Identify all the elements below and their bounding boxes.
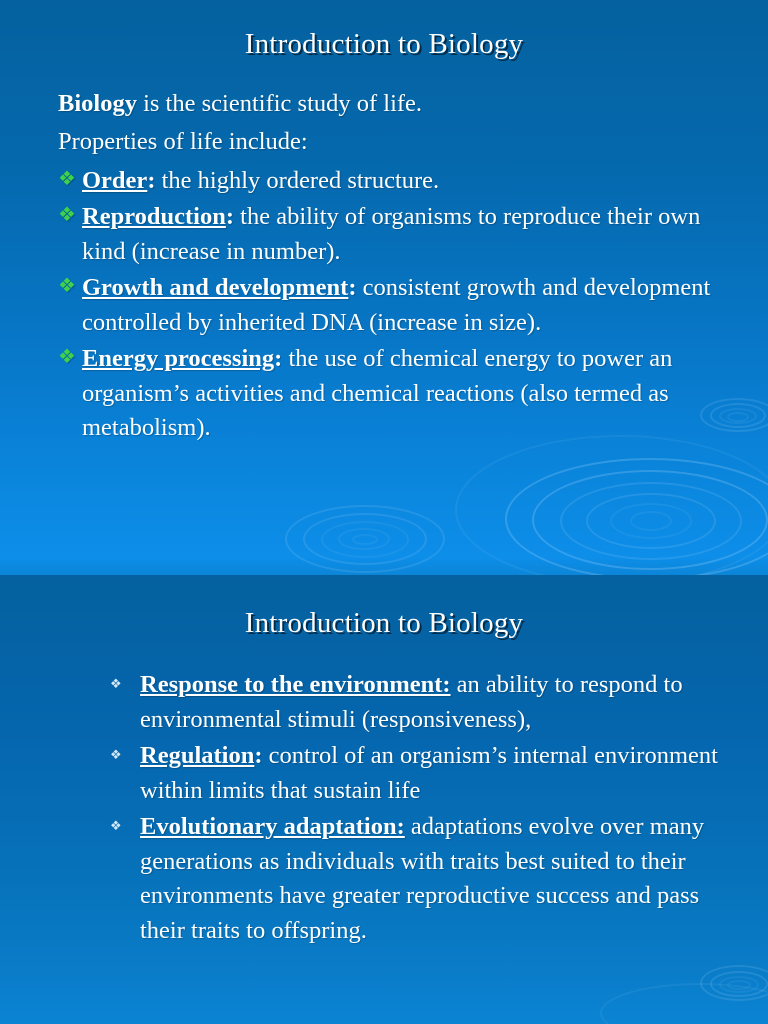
list-item-term-tail: : bbox=[348, 274, 356, 301]
diamond-bullet-icon: ❖ bbox=[58, 276, 82, 296]
diamond-bullet-icon: ❖ bbox=[58, 169, 82, 189]
list-item-term: Evolutionary adaptation: bbox=[140, 813, 405, 840]
list-item-term: Order bbox=[82, 167, 147, 194]
slide-1-body: Biology is the scientific study of life.… bbox=[0, 61, 768, 446]
diamond-bullet-icon: ❖ bbox=[58, 347, 82, 367]
page-title: Introduction to Biology bbox=[0, 575, 768, 640]
list-item-term-tail: : bbox=[226, 203, 234, 230]
slide-2-bullet-list: ❖ Response to the environment: an abilit… bbox=[110, 668, 748, 948]
intro-line-1-strong: Biology bbox=[58, 90, 137, 117]
list-item-text: Response to the environment: an ability … bbox=[140, 668, 740, 737]
list-item-text: Regulation: control of an organism’s int… bbox=[140, 739, 740, 808]
intro-line-2: Properties of life include: bbox=[58, 125, 748, 159]
list-item-term-tail: : bbox=[254, 742, 262, 769]
list-item-term: Energy processing bbox=[82, 345, 274, 372]
list-item-text: Reproduction: the ability of organisms t… bbox=[82, 200, 748, 269]
intro-line-2-rest: Properties of life include: bbox=[58, 128, 308, 155]
slide-1-bullet-list: ❖ Order: the highly ordered structure. ❖… bbox=[58, 164, 748, 446]
diamond-bullet-icon: ❖ bbox=[110, 819, 140, 832]
slide-1: Introduction to Biology Biology is the s… bbox=[0, 0, 768, 575]
list-item: ❖ Response to the environment: an abilit… bbox=[110, 668, 748, 737]
list-item-text: Growth and development: consistent growt… bbox=[82, 271, 748, 340]
page-title: Introduction to Biology bbox=[0, 0, 768, 61]
list-item: ❖ Energy processing: the use of chemical… bbox=[58, 342, 748, 446]
list-item-body: the highly ordered structure. bbox=[155, 167, 439, 194]
intro-line-1-rest: is the scientific study of life. bbox=[137, 90, 422, 117]
list-item-text: Energy processing: the use of chemical e… bbox=[82, 342, 748, 446]
list-item-text: Order: the highly ordered structure. bbox=[82, 164, 748, 199]
list-item-text: Evolutionary adaptation: adaptations evo… bbox=[140, 810, 740, 948]
diamond-bullet-icon: ❖ bbox=[110, 748, 140, 761]
list-item: ❖ Regulation: control of an organism’s i… bbox=[110, 739, 748, 808]
list-item: ❖ Reproduction: the ability of organisms… bbox=[58, 200, 748, 269]
slide-deck: Introduction to Biology Biology is the s… bbox=[0, 0, 768, 1024]
list-item-term: Growth and development bbox=[82, 274, 348, 301]
diamond-bullet-icon: ❖ bbox=[58, 205, 82, 225]
slide-2: Introduction to Biology ❖ Response to th… bbox=[0, 575, 768, 1024]
diamond-bullet-icon: ❖ bbox=[110, 677, 140, 690]
intro-line-1: Biology is the scientific study of life. bbox=[58, 87, 748, 121]
list-item: ❖ Growth and development: consistent gro… bbox=[58, 271, 748, 340]
list-item-term: Reproduction bbox=[82, 203, 226, 230]
list-item: ❖ Evolutionary adaptation: adaptations e… bbox=[110, 810, 748, 948]
list-item-term: Response to the environment: bbox=[140, 671, 451, 698]
slide-2-body: ❖ Response to the environment: an abilit… bbox=[0, 640, 768, 948]
list-item: ❖ Order: the highly ordered structure. bbox=[58, 164, 748, 199]
list-item-term: Regulation bbox=[140, 742, 254, 769]
